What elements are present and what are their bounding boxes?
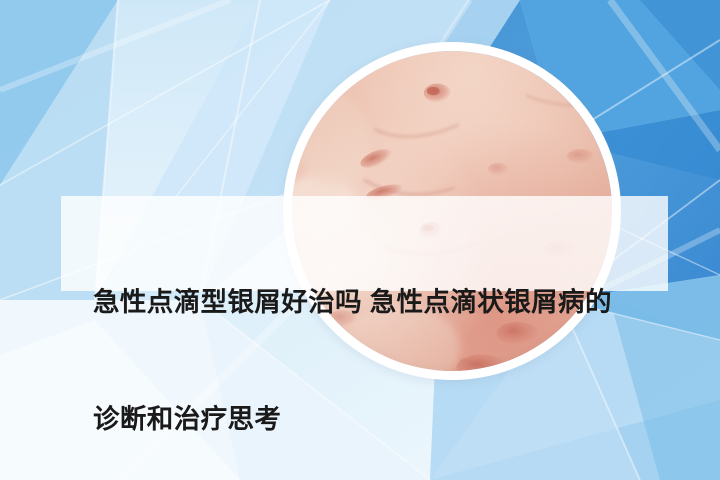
page-title: 急性点滴型银屑好治吗 急性点滴状银屑病的 诊断和治疗思考 [93, 205, 668, 480]
article-banner-image: 急性点滴型银屑好治吗 急性点滴状银屑病的 诊断和治疗思考 [0, 0, 720, 480]
headline-line-2: 诊断和治疗思考 [93, 400, 668, 439]
headline-line-1: 急性点滴型银屑好治吗 急性点滴状银屑病的 [93, 283, 668, 322]
